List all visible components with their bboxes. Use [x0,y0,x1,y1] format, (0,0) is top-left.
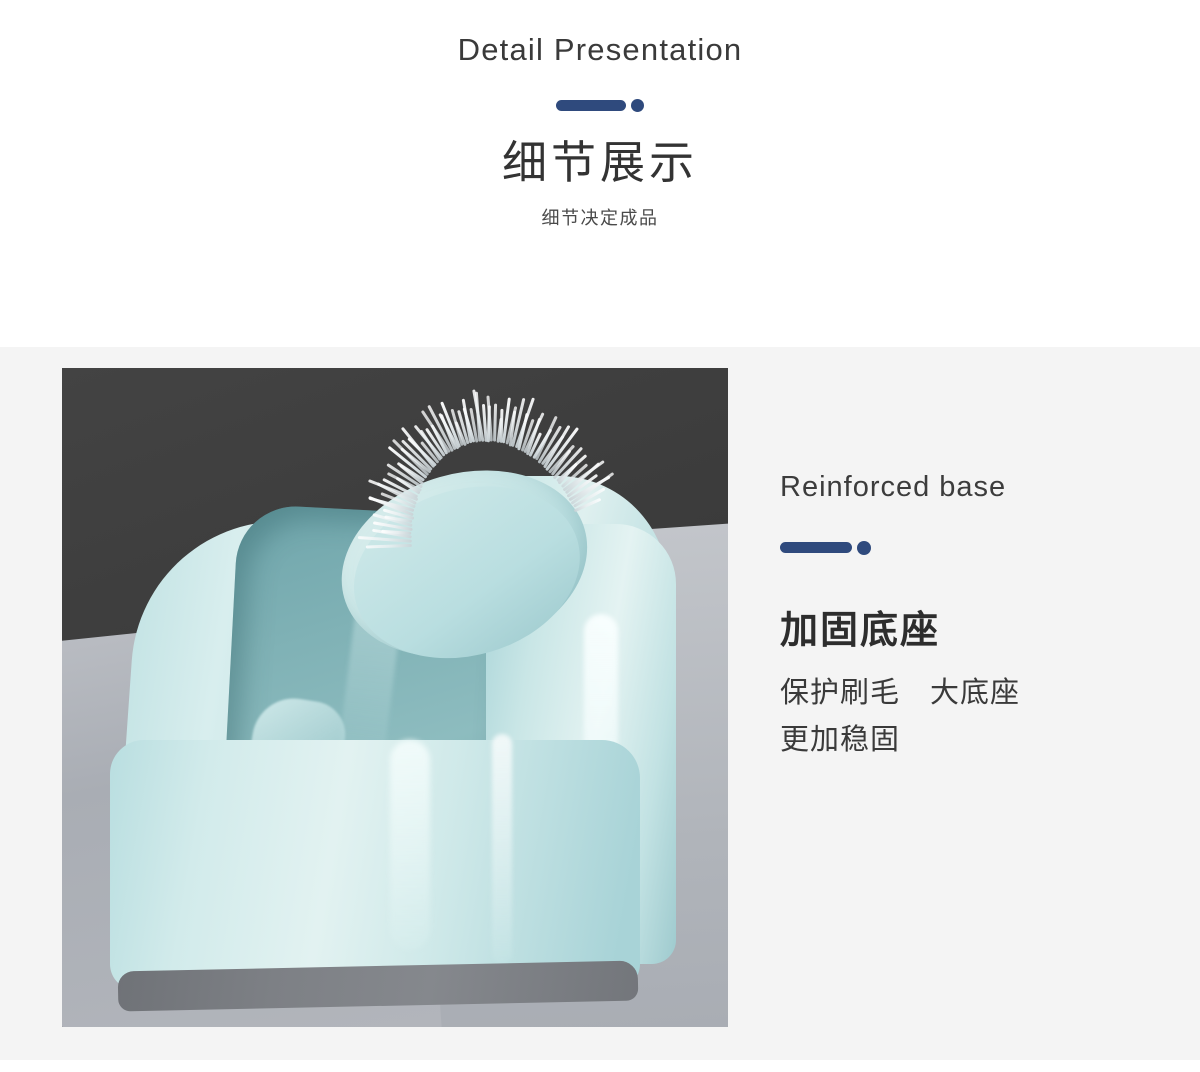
bottom-spacer [0,1060,1200,1072]
header-divider [556,99,644,112]
brush-holder-base [110,468,680,1008]
accent-bar-icon [556,100,626,111]
header-chinese-subtitle: 细节决定成品 [542,204,659,230]
header-chinese-title: 细节展示 [502,138,698,188]
product-photo [62,368,728,1027]
feature-chinese-description: 保护刷毛 大底座 更加稳固 [780,670,1160,764]
feature-chinese-title: 加固底座 [780,611,1160,653]
header-section: Detail Presentation 细节展示 细节决定成品 [0,0,1200,347]
feature-text-column: Reinforced base 加固底座 保护刷毛 大底座 更加稳固 [780,470,1160,764]
front-edge-highlight [492,734,512,964]
feature-english-title: Reinforced base [780,470,1160,505]
holder-front-body [110,740,640,990]
accent-bar-icon [780,542,852,553]
product-detail-page: Detail Presentation 细节展示 细节决定成品 [0,0,1200,1072]
feature-divider [780,541,1160,555]
feature-line-1: 保护刷毛 大底座 [780,670,1160,717]
feature-line-2: 更加稳固 [780,717,1160,764]
accent-dot-icon [631,99,644,112]
accent-dot-icon [857,541,871,555]
header-english-title: Detail Presentation [458,31,743,68]
front-highlight [390,740,430,950]
